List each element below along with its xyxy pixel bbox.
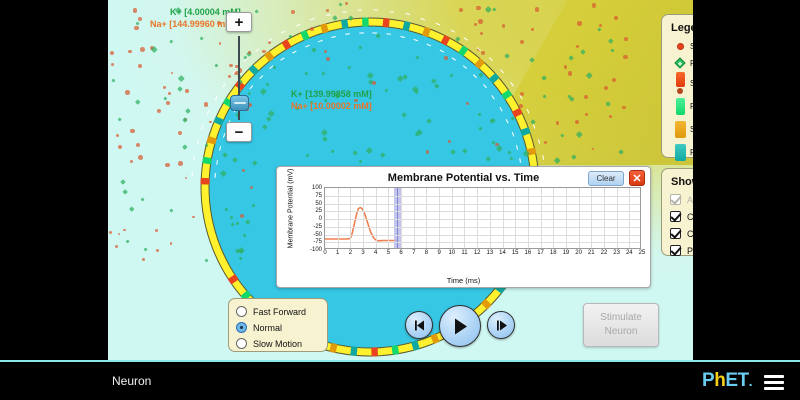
potassium-leak-channel-icon (670, 144, 690, 161)
stimulate-neuron-button[interactable]: Stimulate Neuron (583, 303, 659, 347)
zoom-slider-handle[interactable] (230, 95, 249, 111)
chart-gridline-vertical (591, 188, 592, 248)
checkbox-label[interactable]: Charges (687, 212, 693, 222)
membrane-channel[interactable] (371, 347, 378, 356)
chart-x-tick-label: 8 (425, 250, 428, 256)
legend-item-potassium-ion: Potassium Ion (K+) (670, 55, 693, 71)
chart-gridline-vertical (515, 188, 516, 248)
chart-x-tick-label: 6 (399, 250, 402, 256)
close-icon[interactable]: ✕ (629, 170, 645, 186)
chart-x-tick-label: 2 (349, 250, 352, 256)
concentrations-checkbox[interactable] (670, 228, 681, 239)
step-forward-icon (495, 320, 508, 331)
sim-name-label: Neuron (112, 374, 151, 388)
chart-gridline-horizontal (325, 242, 640, 243)
membrane-channel[interactable] (391, 345, 399, 355)
show-title: Show (671, 176, 693, 188)
chart-x-tick-label: 25 (639, 250, 646, 256)
logo-p: P (702, 370, 714, 391)
chart-x-axis-label: Time (ms) (277, 276, 650, 285)
legend-panel: Legend Sodium Ion (Na+) Potassium Ion (K… (661, 14, 693, 158)
chart-y-axis-label: Membrane Potential (mV) (288, 164, 295, 254)
potassium-ion-icon (670, 59, 690, 67)
membrane-channel[interactable] (341, 19, 349, 29)
chart-gridline-horizontal (325, 235, 640, 236)
legend-label: Potassium Ion (K+) (690, 59, 693, 68)
chart-y-tick-label: -50 (313, 232, 322, 238)
navigation-bar: Neuron PhET. (0, 360, 800, 400)
chart-y-tick-label: 0 (319, 216, 322, 222)
chart-gridline-vertical (376, 188, 377, 248)
stimulate-line-1: Stimulate (600, 311, 642, 325)
zoom-out-button[interactable]: − (226, 122, 252, 142)
chart-y-tick-label: 25 (315, 208, 322, 214)
chart-gridline-vertical (490, 188, 491, 248)
chart-gridline-vertical (617, 188, 618, 248)
checkbox-row-concentrations[interactable]: Concentrations (670, 226, 693, 241)
chart-x-tick-label: 7 (412, 250, 415, 256)
chart-x-tick-label: 20 (575, 250, 582, 256)
chart-y-tick-label: -25 (313, 224, 322, 230)
chart-x-tick-label: 14 (499, 250, 506, 256)
chart-plot-area: 1007550250-25-50-75-10001234567891011121… (324, 187, 641, 249)
legend-label: Potassium Gated Channel (690, 102, 693, 111)
legend-label: Potassium Leak Channel (690, 148, 693, 157)
chart-y-tick-label: 75 (315, 193, 322, 199)
inner-potassium-label: K+ [139.99858 mM] (291, 88, 372, 100)
legend-title: Legend (671, 22, 693, 34)
sim-window: −−−−−−−−−−−−−−−−−−−−−−−−−−−−−−−−−−−−−−−−… (0, 0, 800, 400)
chart-gridline-vertical (439, 188, 440, 248)
chart-x-tick-label: 24 (626, 250, 633, 256)
chart-x-tick-label: 16 (525, 250, 532, 256)
all-ions-checkbox (670, 194, 681, 205)
membrane-potential-chart: Membrane Potential vs. Time Clear ✕ Memb… (276, 166, 651, 288)
chart-gridline-horizontal (325, 219, 640, 220)
clear-button[interactable]: Clear (588, 171, 624, 186)
chart-x-tick-label: 9 (437, 250, 440, 256)
chart-x-tick-label: 22 (601, 250, 608, 256)
logo-h: h (714, 370, 725, 391)
chart-gridline-vertical (477, 188, 478, 248)
checkbox-label[interactable]: Concentrations (687, 229, 693, 239)
membrane-channel[interactable] (362, 17, 369, 26)
chart-gridline-vertical (414, 188, 415, 248)
chart-y-tick-label: -75 (313, 239, 322, 245)
chart-gridline-vertical (503, 188, 504, 248)
legend-item-sodium-gated-channel: Sodium Gated Channel (670, 72, 693, 94)
chart-y-tick-label: -100 (310, 247, 322, 253)
fast-forward-radio[interactable] (236, 306, 247, 317)
zoom-control[interactable]: + − (226, 12, 256, 142)
chart-x-tick-label: 12 (474, 250, 481, 256)
chart-gridline-horizontal (325, 204, 640, 205)
radio-label[interactable]: Normal (253, 323, 282, 333)
chart-gridline-vertical (452, 188, 453, 248)
chart-gridline-horizontal (325, 227, 640, 228)
checkbox-label[interactable]: Potential Chart (687, 246, 693, 256)
chart-gridline-horizontal (325, 196, 640, 197)
normal-radio[interactable] (236, 322, 247, 333)
playback-controls (405, 305, 515, 347)
radio-row-normal[interactable]: Normal (236, 320, 320, 335)
membrane-channel[interactable] (200, 178, 209, 185)
chart-gridline-vertical (350, 188, 351, 248)
radio-label[interactable]: Fast Forward (253, 307, 306, 317)
stimulate-line-2: Neuron (605, 325, 638, 339)
potassium-gated-channel-icon (670, 98, 690, 115)
play-button[interactable] (439, 305, 481, 347)
menu-icon[interactable] (764, 375, 784, 390)
chart-gridline-vertical (579, 188, 580, 248)
chart-gridline-vertical (401, 188, 402, 248)
logo-et: ET (725, 370, 748, 391)
simulation-stage: −−−−−−−−−−−−−−−−−−−−−−−−−−−−−−−−−−−−−−−−… (108, 0, 693, 360)
chart-x-tick-label: 15 (512, 250, 519, 256)
chart-x-tick-label: 5 (387, 250, 390, 256)
legend-label: Sodium Ion (Na+) (690, 42, 693, 51)
chart-x-tick-label: 18 (550, 250, 557, 256)
legend-label: Sodium Gated Channel (690, 79, 693, 88)
chart-gridline-vertical (388, 188, 389, 248)
chart-gridline-vertical (553, 188, 554, 248)
chart-gridline-vertical (426, 188, 427, 248)
chart-y-tick-label: 50 (315, 201, 322, 207)
chart-y-tick-label: 100 (312, 185, 322, 191)
chart-x-tick-label: 13 (486, 250, 493, 256)
chart-gridline-vertical (541, 188, 542, 248)
chart-x-tick-label: 21 (588, 250, 595, 256)
step-forward-button[interactable] (487, 311, 515, 339)
show-panel: Show All Ions Charges Concentrations Pot… (661, 168, 693, 256)
chart-gridline-vertical (363, 188, 364, 248)
checkbox-row-potential-chart[interactable]: Potential Chart (670, 243, 693, 258)
radio-label[interactable]: Slow Motion (253, 339, 302, 349)
sodium-leak-channel-icon (670, 121, 690, 138)
chart-plot-wrapper: 1007550250-25-50-75-10001234567891011121… (297, 187, 647, 267)
chart-gridline-vertical (566, 188, 567, 248)
chart-gridline-vertical (338, 188, 339, 248)
checkbox-row-charges[interactable]: Charges (670, 209, 693, 224)
radio-row-fast-forward[interactable]: Fast Forward (236, 304, 320, 319)
chart-gridline-vertical (464, 188, 465, 248)
play-icon (452, 318, 468, 335)
legend-item-sodium-ion: Sodium Ion (Na+) (670, 38, 693, 54)
inner-concentration-readout: K+ [139.99858 mM] Na+ [10.00002 mM] (291, 88, 372, 112)
phet-logo[interactable]: PhET. (702, 371, 752, 391)
chart-x-tick-label: 10 (448, 250, 455, 256)
chart-x-tick-label: 0 (323, 250, 326, 256)
legend-label: Sodium Leak Channel (690, 125, 693, 134)
membrane-channel[interactable] (382, 18, 389, 28)
chart-x-tick-label: 23 (613, 250, 620, 256)
legend-item-potassium-leak-channel: Potassium Leak Channel (670, 141, 693, 163)
step-back-icon (413, 320, 426, 331)
chart-x-tick-label: 19 (563, 250, 570, 256)
chart-gridline-horizontal (325, 211, 640, 212)
zoom-in-button[interactable]: + (226, 12, 252, 32)
legend-item-potassium-gated-channel: Potassium Gated Channel (670, 95, 693, 117)
potential-chart-checkbox[interactable] (670, 245, 681, 256)
radio-row-slow-motion[interactable]: Slow Motion (236, 336, 320, 351)
chart-x-tick-label: 1 (336, 250, 339, 256)
speed-radio-panel: Fast Forward Normal Slow Motion (228, 298, 328, 352)
inner-sodium-label: Na+ [10.00002 mM] (291, 100, 372, 112)
chart-x-tick-label: 3 (361, 250, 364, 256)
checkbox-label: All Ions (687, 195, 693, 205)
chart-x-tick-label: 11 (461, 250, 467, 256)
logo-dot: . (749, 373, 752, 389)
slow-motion-radio[interactable] (236, 338, 247, 349)
chart-x-tick-label: 4 (374, 250, 377, 256)
legend-item-sodium-leak-channel: Sodium Leak Channel (670, 118, 693, 140)
chart-x-tick-label: 17 (537, 250, 544, 256)
checkbox-row-all-ions: All Ions (670, 192, 693, 207)
sodium-gated-channel-icon (670, 72, 690, 94)
chart-gridline-vertical (528, 188, 529, 248)
potential-curve (325, 188, 640, 248)
chart-gridline-vertical (604, 188, 605, 248)
chart-gridline-vertical (629, 188, 630, 248)
charges-checkbox[interactable] (670, 211, 681, 222)
step-back-button[interactable] (405, 311, 433, 339)
sodium-ion-icon (670, 43, 690, 50)
membrane-channel[interactable] (350, 346, 357, 356)
